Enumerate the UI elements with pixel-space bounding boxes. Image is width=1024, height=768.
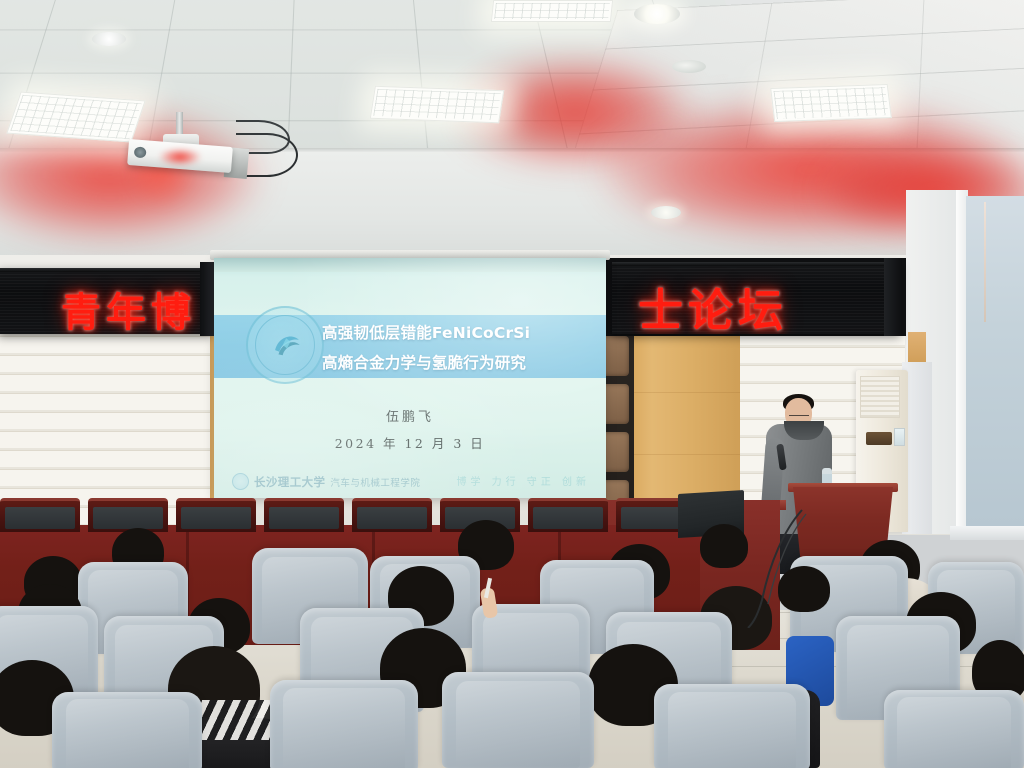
- ceiling: [0, 0, 1024, 268]
- projector-lens: [134, 146, 147, 158]
- dais-chair: [528, 498, 608, 532]
- university-emblem-icon: [246, 306, 324, 384]
- dais-chair-seat: [269, 507, 339, 529]
- ceiling-panel-light: [6, 92, 145, 143]
- window-roller-blind[interactable]: [966, 196, 1024, 526]
- dais-chair-seat: [93, 507, 163, 529]
- acoustic-cushion: [602, 432, 629, 472]
- dais-chair: [176, 498, 256, 532]
- dais-chair-seat: [181, 507, 251, 529]
- slide-title: 高强韧低层错能FeNiCoCrSi 高熵合金力学与氢脆行为研究: [322, 318, 592, 378]
- right-wall-wood-accent: [908, 332, 926, 366]
- ac-control-panel[interactable]: [866, 432, 892, 445]
- ac-display: [894, 428, 905, 446]
- dais-chair: [88, 498, 168, 532]
- led-frame: [612, 262, 900, 266]
- audience-head: [700, 524, 748, 568]
- blind-cord[interactable]: [984, 202, 986, 322]
- ceiling-panel-light: [370, 86, 505, 124]
- emblem-mark: [270, 328, 304, 362]
- lecture-hall-photo: 青年博 士论坛 高强韧低层错能FeNiCoCrSi 高熵合金力学与氢脆行为研究 …: [0, 0, 1024, 768]
- acoustic-cushion: [602, 336, 629, 376]
- dais-chair-seat: [5, 507, 75, 529]
- slide-date: 2024 年 12 月 3 日: [214, 433, 606, 452]
- window-sill: [950, 526, 1024, 540]
- led-banner-right-edge: [884, 258, 902, 336]
- footer-emblem-icon: [232, 473, 249, 490]
- ceiling-panel-light: [491, 0, 613, 22]
- audience-seat: [52, 692, 202, 768]
- ac-grille: [860, 376, 900, 418]
- audience-seat: [654, 684, 810, 768]
- audience-seat: [884, 690, 1024, 768]
- dais-chair-seat: [357, 507, 427, 529]
- projector-beam: [126, 166, 198, 208]
- led-banner-right-text: 士论坛: [638, 274, 788, 334]
- screen-top-shade: [214, 258, 606, 272]
- slide-title-line-2: 高熵合金力学与氢脆行为研究: [322, 348, 592, 378]
- led-banner-left-text: 青年博: [61, 280, 196, 334]
- led-banner-left-edge: [200, 262, 214, 336]
- footer-school-name: 汽车与机械工程学院: [330, 475, 420, 489]
- led-banner-left: 青年博: [0, 268, 212, 334]
- acoustic-cushion: [602, 384, 629, 424]
- footer-university-name: 长沙理工大学: [254, 474, 325, 490]
- smoke-detector-icon: [672, 60, 706, 73]
- projection-screen: 高强韧低层错能FeNiCoCrSi 高熵合金力学与氢脆行为研究 伍鹏飞 2024…: [214, 258, 606, 498]
- ceiling-downlight: [651, 206, 681, 219]
- audience-seat: [270, 680, 418, 768]
- dais-chair: [352, 498, 432, 532]
- slide-footer-left: 长沙理工大学 汽车与机械工程学院: [232, 473, 420, 490]
- dais-chair-seat: [533, 507, 603, 529]
- ceiling-downlight: [92, 32, 126, 46]
- ceiling-panel-light: [770, 84, 892, 122]
- slide-presenter-name: 伍鹏飞: [214, 406, 606, 425]
- speaker-glasses: [789, 411, 809, 416]
- audience-seat: [442, 672, 594, 768]
- floor-cable: [744, 508, 814, 628]
- dais-chair: [264, 498, 344, 532]
- projector-red-reflection: [158, 148, 202, 166]
- led-banner-right: 士论坛: [612, 262, 900, 334]
- slide-title-line-1: 高强韧低层错能FeNiCoCrSi: [322, 318, 592, 348]
- slide-footer-motto: 博学 力行 守正 创新: [456, 473, 590, 488]
- led-frame: [0, 268, 212, 272]
- dais-chair: [0, 498, 80, 532]
- ceiling-downlight: [634, 4, 680, 24]
